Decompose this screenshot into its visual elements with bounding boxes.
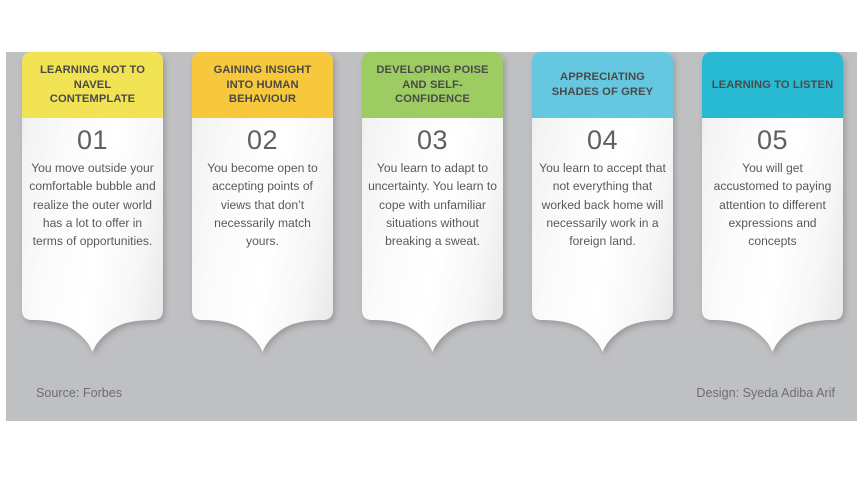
card-05-header-label: LEARNING TO LISTEN (712, 78, 834, 93)
card-05-number: 05 (708, 124, 837, 158)
source-credit: Source: Forbes (36, 386, 122, 400)
infographic-root: LEARNING NOT TO NAVEL CONTEMPLATE 01 You… (0, 0, 857, 482)
card-04-body: 04 You learn to accept that not everythi… (532, 118, 673, 251)
card-04-number: 04 (538, 124, 667, 158)
card-03-text: You learn to adapt to uncertainty. You l… (368, 159, 497, 251)
card-02-body: 02 You become open to accepting points o… (192, 118, 333, 251)
card-04-header: APPRECIATING SHADES OF GREY (532, 52, 673, 118)
card-05-text: You will get accustomed to paying attent… (708, 159, 837, 251)
card-02-header-label: GAINING INSIGHT INTO HUMAN BEHAVIOUR (200, 63, 325, 107)
card-01-body: 01 You move outside your comfortable bub… (22, 118, 163, 251)
card-01[interactable]: LEARNING NOT TO NAVEL CONTEMPLATE 01 You… (22, 52, 163, 352)
card-03[interactable]: DEVELOPING POISE AND SELF-CONFIDENCE 03 … (362, 52, 503, 352)
card-01-header-label: LEARNING NOT TO NAVEL CONTEMPLATE (30, 63, 155, 107)
card-05-header: LEARNING TO LISTEN (702, 52, 843, 118)
cards-row: LEARNING NOT TO NAVEL CONTEMPLATE 01 You… (6, 52, 857, 421)
card-03-header: DEVELOPING POISE AND SELF-CONFIDENCE (362, 52, 503, 118)
card-02-text: You become open to accepting points of v… (198, 159, 327, 251)
card-05-body: 05 You will get accustomed to paying att… (702, 118, 843, 251)
card-03-header-label: DEVELOPING POISE AND SELF-CONFIDENCE (370, 63, 495, 107)
card-02-number: 02 (198, 124, 327, 158)
card-03-body: 03 You learn to adapt to uncertainty. Yo… (362, 118, 503, 251)
card-02-header: GAINING INSIGHT INTO HUMAN BEHAVIOUR (192, 52, 333, 118)
card-02-shape: GAINING INSIGHT INTO HUMAN BEHAVIOUR 02 … (192, 52, 333, 352)
card-01-header: LEARNING NOT TO NAVEL CONTEMPLATE (22, 52, 163, 118)
card-01-text: You move outside your comfortable bubble… (28, 159, 157, 251)
card-03-number: 03 (368, 124, 497, 158)
card-05-shape: LEARNING TO LISTEN 05 You will get accus… (702, 52, 843, 352)
card-05[interactable]: LEARNING TO LISTEN 05 You will get accus… (702, 52, 843, 352)
card-04-text: You learn to accept that not everything … (538, 159, 667, 251)
card-04-header-label: APPRECIATING SHADES OF GREY (540, 70, 665, 100)
card-01-shape: LEARNING NOT TO NAVEL CONTEMPLATE 01 You… (22, 52, 163, 352)
card-02[interactable]: GAINING INSIGHT INTO HUMAN BEHAVIOUR 02 … (192, 52, 333, 352)
card-04-shape: APPRECIATING SHADES OF GREY 04 You learn… (532, 52, 673, 352)
card-03-shape: DEVELOPING POISE AND SELF-CONFIDENCE 03 … (362, 52, 503, 352)
design-credit: Design: Syeda Adiba Arif (696, 386, 835, 400)
card-01-number: 01 (28, 124, 157, 158)
card-04[interactable]: APPRECIATING SHADES OF GREY 04 You learn… (532, 52, 673, 352)
